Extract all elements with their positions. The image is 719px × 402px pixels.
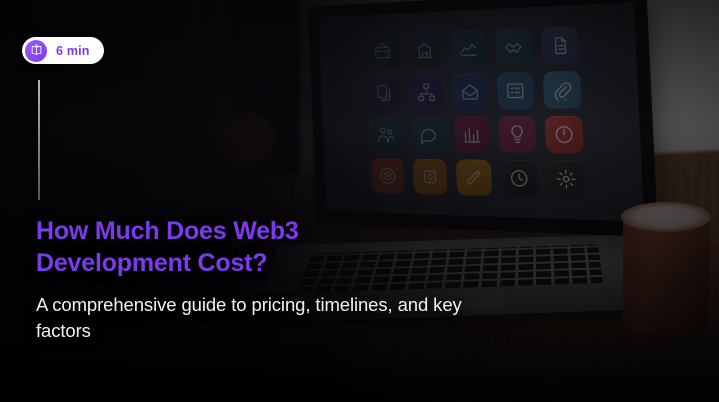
accent-divider-line [38, 80, 40, 200]
page-title: How Much Does Web3 Development Cost? [36, 215, 366, 279]
open-book-icon [25, 40, 47, 62]
hero-content: 6 min How Much Does Web3 Development Cos… [0, 0, 719, 402]
article-hero-card: 6 min How Much Does Web3 Development Cos… [0, 0, 719, 402]
read-time-label: 6 min [56, 44, 90, 58]
page-subtitle: A comprehensive guide to pricing, timeli… [36, 292, 486, 345]
read-time-badge: 6 min [22, 37, 104, 64]
